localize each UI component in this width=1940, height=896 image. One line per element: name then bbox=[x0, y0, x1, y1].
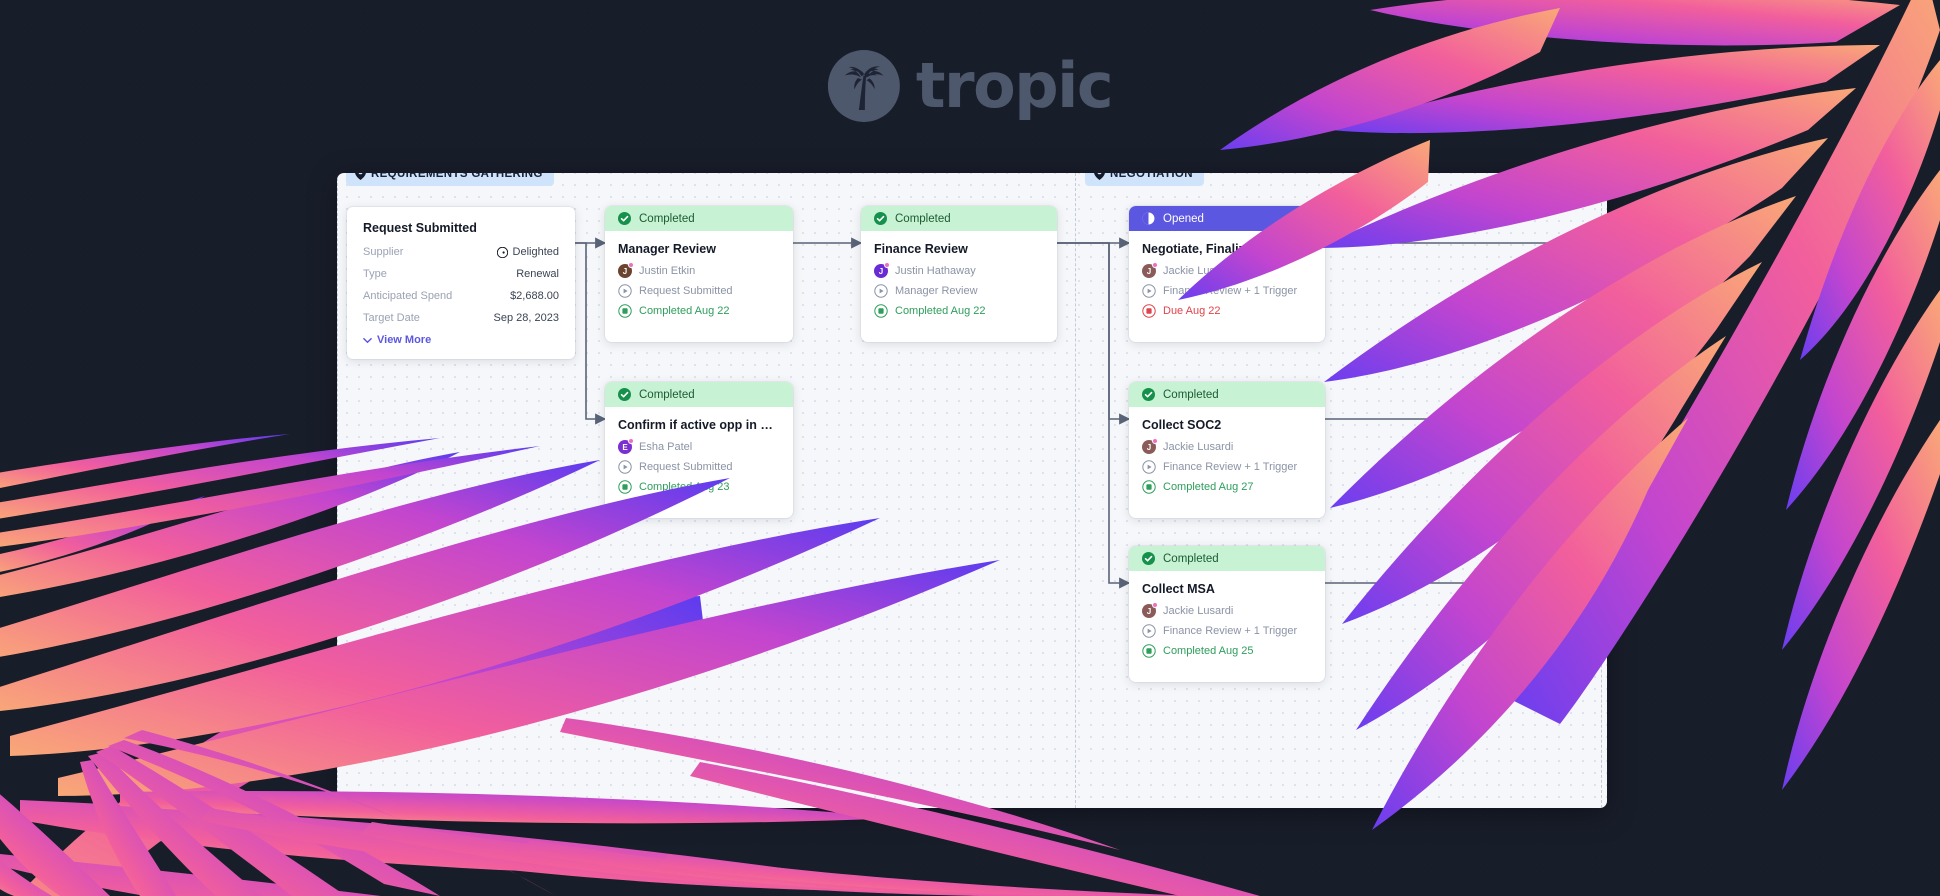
card-request-submitted[interactable]: Request Submitted Supplier Delighted Typ… bbox=[347, 207, 575, 359]
avatar: J bbox=[618, 264, 632, 278]
card-assignee-row[interactable]: E Esha Patel bbox=[618, 440, 780, 454]
detail-key: Supplier bbox=[363, 246, 403, 258]
detail-row-supplier: Supplier Delighted bbox=[363, 246, 559, 258]
card-trigger-row: Finance Review + 1 Trigger bbox=[1142, 460, 1312, 474]
play-circle-icon bbox=[1142, 284, 1156, 298]
card-date-label: Completed Aug 22 bbox=[639, 305, 730, 317]
check-circle-icon bbox=[1142, 552, 1155, 565]
card-assignee-name: Justin Hathaway bbox=[895, 265, 976, 277]
detail-value: Sep 28, 2023 bbox=[494, 312, 559, 324]
play-circle-icon bbox=[1142, 460, 1156, 474]
card-body: Manager Review J Justin Etkin Request Su… bbox=[605, 231, 793, 337]
card-date-row: Completed Aug 23 bbox=[618, 480, 780, 494]
card-status-label: Opened bbox=[1163, 213, 1204, 225]
card-assignee-row[interactable]: J Justin Etkin bbox=[618, 264, 780, 278]
card-date-row: Due Aug 22 bbox=[1142, 304, 1312, 318]
card-date-label: Completed Aug 22 bbox=[895, 305, 986, 317]
detail-value-text: Delighted bbox=[513, 246, 559, 258]
calendar-check-icon bbox=[1142, 480, 1156, 494]
card-trigger-row: Finance Review + 1 Trigger bbox=[1142, 624, 1312, 638]
card-body: Confirm if active opp in pipeline E Esha… bbox=[605, 407, 793, 513]
check-circle-icon bbox=[1142, 388, 1155, 401]
avatar: J bbox=[1142, 604, 1156, 618]
card-date-row: Completed Aug 22 bbox=[874, 304, 1044, 318]
detail-key: Anticipated Spend bbox=[363, 290, 452, 302]
tropic-logo: tropic bbox=[828, 50, 1112, 122]
detail-row-type: Type Renewal bbox=[363, 268, 559, 280]
avatar-status-dot bbox=[884, 262, 890, 268]
detail-value: Delighted bbox=[497, 246, 559, 258]
view-more-label: View More bbox=[377, 334, 431, 346]
check-circle-icon bbox=[618, 212, 631, 225]
card-assignee-row[interactable]: J Jackie Lusardi bbox=[1142, 604, 1312, 618]
avatar: J bbox=[874, 264, 888, 278]
card-body: Collect MSA J Jackie Lusardi Finance Rev… bbox=[1129, 571, 1325, 677]
card-body: Negotiate, Finalize Agreement/Proposal, … bbox=[1129, 231, 1325, 337]
card-status-header: Completed bbox=[605, 206, 793, 231]
card-assignee-name: Justin Etkin bbox=[639, 265, 695, 277]
card-trigger-label: Request Submitted bbox=[639, 461, 733, 473]
detail-value: Renewal bbox=[516, 268, 559, 280]
card-collect-msa[interactable]: Completed Collect MSA J Jackie Lusardi bbox=[1129, 546, 1325, 682]
check-circle-icon bbox=[618, 388, 631, 401]
half-circle-icon bbox=[1142, 212, 1155, 225]
map-pin-icon bbox=[355, 173, 366, 180]
supplier-logo-icon bbox=[497, 247, 508, 258]
card-trigger-label: Manager Review bbox=[895, 285, 978, 297]
card-assignee-row[interactable]: J Justin Hathaway bbox=[874, 264, 1044, 278]
detail-key: Type bbox=[363, 268, 387, 280]
play-circle-icon bbox=[618, 284, 632, 298]
detail-value: $2,688.00 bbox=[510, 290, 559, 302]
card-assignee-name: Jackie Lusardi bbox=[1163, 441, 1233, 453]
check-circle-icon bbox=[874, 212, 887, 225]
stage-badge-requirements[interactable]: REQUIREMENTS GATHERING bbox=[346, 173, 554, 186]
calendar-check-icon bbox=[1142, 644, 1156, 658]
avatar-status-dot bbox=[1152, 262, 1158, 268]
card-status-label: Completed bbox=[895, 213, 951, 225]
palm-tree-icon bbox=[828, 50, 900, 122]
detail-key: Target Date bbox=[363, 312, 420, 324]
card-body: Collect SOC2 J Jackie Lusardi Finance Re… bbox=[1129, 407, 1325, 513]
card-title: Finance Review bbox=[874, 242, 1044, 256]
card-title: Collect SOC2 bbox=[1142, 418, 1312, 432]
card-trigger-label: Finance Review + 1 Trigger bbox=[1163, 285, 1297, 297]
card-negotiate[interactable]: Opened Negotiate, Finalize Agreement/Pro… bbox=[1129, 206, 1325, 342]
card-status-header: Opened bbox=[1129, 206, 1325, 231]
card-date-label: Completed Aug 25 bbox=[1163, 645, 1254, 657]
card-date-row: Completed Aug 25 bbox=[1142, 644, 1312, 658]
card-trigger-label: Request Submitted bbox=[639, 285, 733, 297]
avatar-status-dot bbox=[1152, 438, 1158, 444]
avatar: E bbox=[618, 440, 632, 454]
edge-finance-to-msa bbox=[1057, 243, 1129, 583]
card-body: Finance Review J Justin Hathaway Manager… bbox=[861, 231, 1057, 337]
card-assignee-name: Jackie Lusardi bbox=[1163, 265, 1233, 277]
card-status-label: Completed bbox=[1163, 553, 1219, 565]
avatar-status-dot bbox=[1152, 602, 1158, 608]
card-date-label: Completed Aug 27 bbox=[1163, 481, 1254, 493]
calendar-check-icon bbox=[618, 480, 632, 494]
card-manager-review[interactable]: Completed Manager Review J Justin Etkin bbox=[605, 206, 793, 342]
card-title: Manager Review bbox=[618, 242, 780, 256]
avatar: J bbox=[1142, 264, 1156, 278]
card-status-header: Completed bbox=[1129, 546, 1325, 571]
view-more-button[interactable]: View More bbox=[363, 334, 559, 346]
card-status-header: Completed bbox=[605, 382, 793, 407]
card-status-header: Completed bbox=[861, 206, 1057, 231]
card-title: Request Submitted bbox=[363, 221, 559, 235]
card-date-label: Due Aug 22 bbox=[1163, 305, 1221, 317]
card-date-row: Completed Aug 27 bbox=[1142, 480, 1312, 494]
stage-badge-label: REQUIREMENTS GATHERING bbox=[371, 173, 543, 180]
card-trigger-label: Finance Review + 1 Trigger bbox=[1163, 461, 1297, 473]
logo-wordmark: tropic bbox=[916, 55, 1112, 117]
card-status-label: Completed bbox=[1163, 389, 1219, 401]
card-assignee-name: Jackie Lusardi bbox=[1163, 605, 1233, 617]
play-circle-icon bbox=[618, 460, 632, 474]
detail-row-anticipated-spend: Anticipated Spend $2,688.00 bbox=[363, 290, 559, 302]
card-date-label: Completed Aug 23 bbox=[639, 481, 730, 493]
card-trigger-row: Finance Review + 1 Trigger bbox=[1142, 284, 1312, 298]
card-assignee-name: Esha Patel bbox=[639, 441, 692, 453]
card-confirm-opp[interactable]: Completed Confirm if active opp in pipel… bbox=[605, 382, 793, 518]
avatar-status-dot bbox=[628, 262, 634, 268]
calendar-check-icon bbox=[618, 304, 632, 318]
play-circle-icon bbox=[1142, 624, 1156, 638]
avatar: J bbox=[1142, 440, 1156, 454]
chevron-down-icon bbox=[363, 336, 372, 345]
card-assignee-row[interactable]: J Jackie Lusardi bbox=[1142, 264, 1312, 278]
detail-row-target-date: Target Date Sep 28, 2023 bbox=[363, 312, 559, 324]
stage-badge-negotiation[interactable]: NEGOTIATION bbox=[1085, 173, 1204, 186]
card-title: Collect MSA bbox=[1142, 582, 1312, 596]
calendar-alert-icon bbox=[1142, 304, 1156, 318]
workflow-canvas[interactable]: REQUIREMENTS GATHERING NEGOTIATION Reque… bbox=[337, 173, 1607, 808]
map-pin-icon bbox=[1094, 173, 1105, 180]
card-finance-review[interactable]: Completed Finance Review J Justin Hathaw… bbox=[861, 206, 1057, 342]
card-status-label: Completed bbox=[639, 389, 695, 401]
card-trigger-row: Manager Review bbox=[874, 284, 1044, 298]
card-title: Negotiate, Finalize Agreement/Proposal, … bbox=[1142, 242, 1312, 256]
screenshot-root: tropic bbox=[0, 0, 1940, 896]
card-collect-soc2[interactable]: Completed Collect SOC2 J Jackie Lusardi bbox=[1129, 382, 1325, 518]
edge-finance-to-soc2 bbox=[1057, 243, 1129, 419]
card-status-label: Completed bbox=[639, 213, 695, 225]
card-status-header: Completed bbox=[1129, 382, 1325, 407]
card-date-row: Completed Aug 22 bbox=[618, 304, 780, 318]
card-assignee-row[interactable]: J Jackie Lusardi bbox=[1142, 440, 1312, 454]
card-trigger-label: Finance Review + 1 Trigger bbox=[1163, 625, 1297, 637]
card-title: Confirm if active opp in pipeline bbox=[618, 418, 780, 432]
play-circle-icon bbox=[874, 284, 888, 298]
card-trigger-row: Request Submitted bbox=[618, 284, 780, 298]
stage-badge-label: NEGOTIATION bbox=[1110, 173, 1193, 180]
avatar-status-dot bbox=[628, 438, 634, 444]
calendar-check-icon bbox=[874, 304, 888, 318]
card-trigger-row: Request Submitted bbox=[618, 460, 780, 474]
